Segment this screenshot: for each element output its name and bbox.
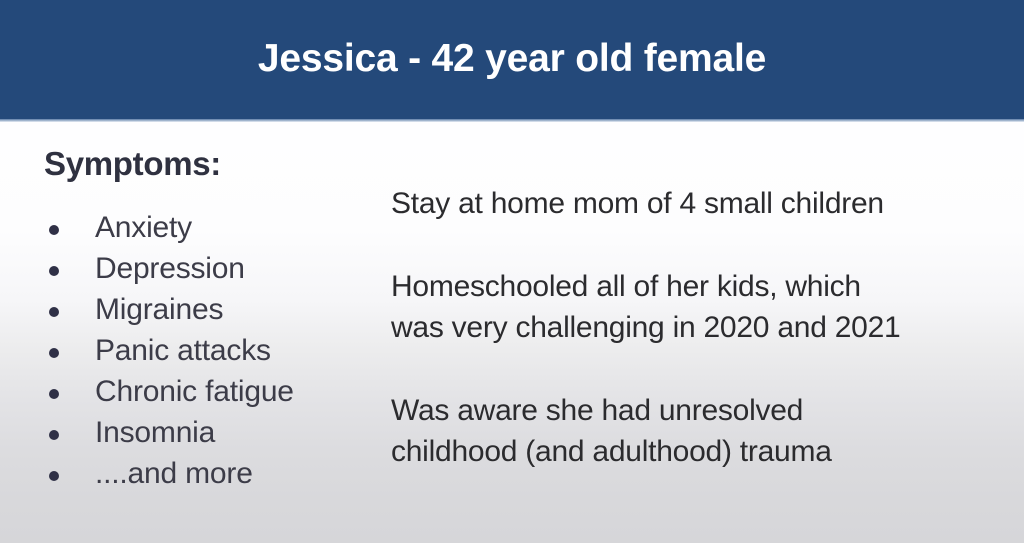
list-item-label: Insomnia <box>95 416 215 449</box>
bullet-dot-icon <box>49 471 59 481</box>
list-item-label: Chronic fatigue <box>95 375 294 408</box>
list-item: Anxiety <box>44 207 374 248</box>
note-line: childhood (and adulthood) trauma <box>391 431 1011 472</box>
note-line: Stay at home mom of 4 small children <box>391 183 1011 224</box>
list-item: ....and more <box>44 453 374 494</box>
note-paragraph: Was aware she had unresolved childhood (… <box>391 390 1011 472</box>
background-notes-column: Stay at home mom of 4 small children Hom… <box>391 183 1011 472</box>
note-line: Homeschooled all of her kids, which <box>391 266 1011 307</box>
list-item: Migraines <box>44 289 374 330</box>
bullet-dot-icon <box>49 266 59 276</box>
bullet-dot-icon <box>49 430 59 440</box>
list-item-label: Anxiety <box>95 211 192 244</box>
bullet-dot-icon <box>49 307 59 317</box>
note-paragraph: Homeschooled all of her kids, which was … <box>391 266 1011 348</box>
list-item-label: ....and more <box>95 457 253 490</box>
header-underline-divider <box>0 119 1024 122</box>
bullet-dot-icon <box>49 389 59 399</box>
list-item-label: Migraines <box>95 293 223 326</box>
list-item-label: Panic attacks <box>95 334 271 367</box>
presentation-slide: Jessica - 42 year old female Symptoms: A… <box>0 0 1024 543</box>
note-line: Was aware she had unresolved <box>391 390 1011 431</box>
list-item: Chronic fatigue <box>44 371 374 412</box>
symptoms-heading: Symptoms: <box>44 143 374 185</box>
list-item: Panic attacks <box>44 330 374 371</box>
slide-header-banner: Jessica - 42 year old female <box>0 0 1024 119</box>
slide-title: Jessica - 42 year old female <box>0 35 1024 83</box>
bullet-dot-icon <box>49 348 59 358</box>
list-item: Insomnia <box>44 412 374 453</box>
note-line: was very challenging in 2020 and 2021 <box>391 307 1011 348</box>
bullet-dot-icon <box>49 225 59 235</box>
list-item-label: Depression <box>95 252 245 285</box>
symptoms-column: Symptoms: Anxiety Depression Migraines P… <box>44 143 374 494</box>
symptoms-list: Anxiety Depression Migraines Panic attac… <box>44 207 374 494</box>
note-paragraph: Stay at home mom of 4 small children <box>391 183 1011 224</box>
list-item: Depression <box>44 248 374 289</box>
